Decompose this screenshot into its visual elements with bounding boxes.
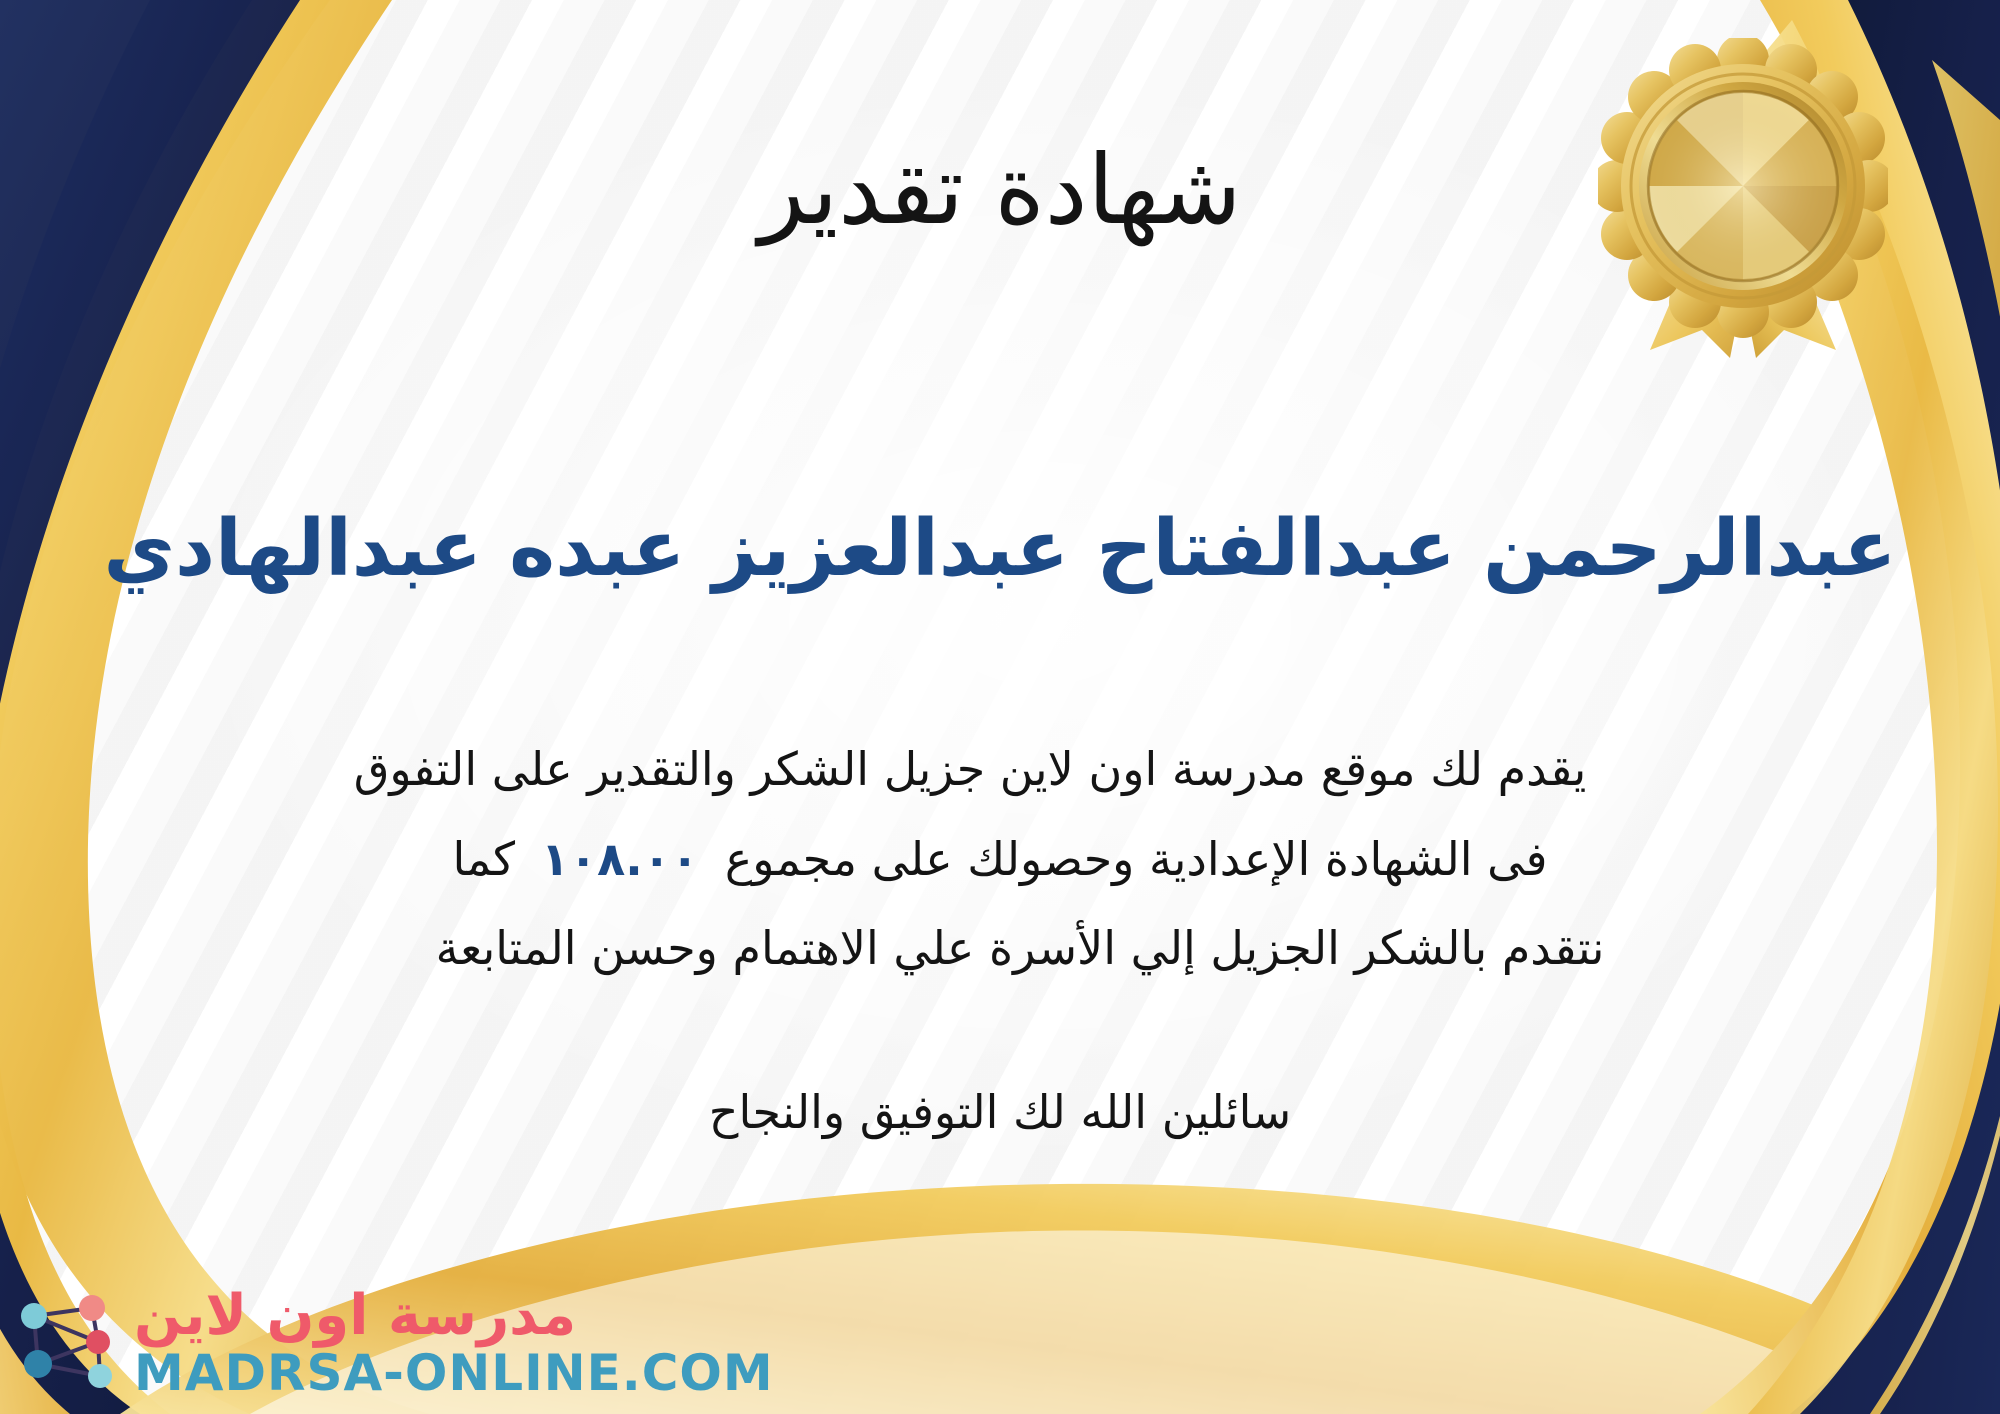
certificate-title: شهادة تقدير — [0, 140, 2000, 241]
closing-wish: سائلين الله لك التوفيق والنجاح — [0, 1085, 2000, 1139]
body-line-2-right-text: فى الشهادة الإعدادية وحصولك على مجموع — [725, 832, 1548, 886]
certificate-body: يقدم لك موقع مدرسة اون لاين جزيل الشكر و… — [180, 725, 1820, 994]
network-nodes-icon — [14, 1288, 124, 1398]
body-line-2-left-text: كما — [452, 832, 515, 886]
total-score-value: ١٠٨.٠٠ — [515, 832, 725, 886]
certificate-page: شهادة تقدير عبدالرحمن عبدالفتاح عبدالعزي… — [0, 0, 2000, 1414]
body-line-1: يقدم لك موقع مدرسة اون لاين جزيل الشكر و… — [180, 725, 1820, 815]
recipient-name: عبدالرحمن عبدالفتاح عبدالعزيز عبده عبدال… — [0, 505, 2000, 595]
body-line-2: فى الشهادة الإعدادية وحصولك على مجموع١٠٨… — [180, 815, 1820, 905]
certificate-content: شهادة تقدير عبدالرحمن عبدالفتاح عبدالعزي… — [0, 0, 2000, 1414]
site-logo[interactable]: مدرسة اون لاين MADRSA-ONLINE.COM — [14, 1288, 774, 1398]
logo-arabic-name: مدرسة اون لاين — [134, 1288, 576, 1344]
logo-text-block: مدرسة اون لاين MADRSA-ONLINE.COM — [134, 1288, 774, 1398]
logo-website-url: MADRSA-ONLINE.COM — [134, 1348, 774, 1398]
body-line-3: نتقدم بالشكر الجزيل إلي الأسرة علي الاهت… — [180, 904, 1820, 994]
